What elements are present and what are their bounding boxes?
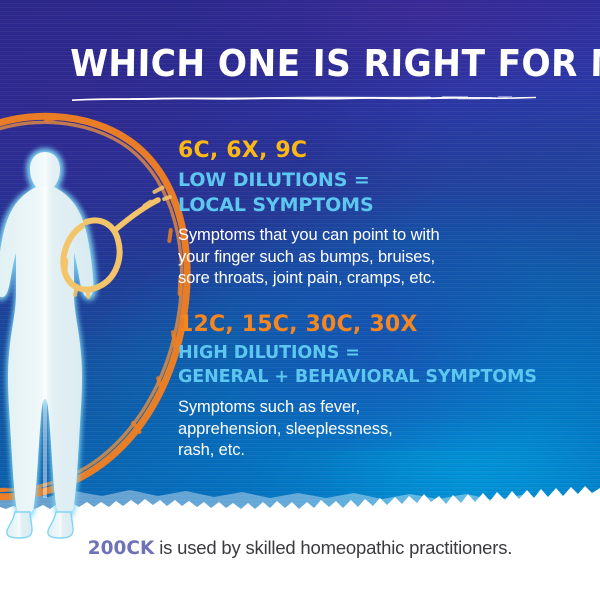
description-low-line-2: your finger such as bumps, bruises, xyxy=(178,248,435,266)
description-high-line-2: apprehension, sleeplessness, xyxy=(178,420,393,438)
page-title: WHICH ONE IS RIGHT FOR ME? xyxy=(70,42,508,86)
dilution-block-low: 6C, 6X, 9C LOW DILUTIONS = LOCAL SYMPTOM… xyxy=(178,138,578,290)
footer-text: is used by skilled homeopathic practitio… xyxy=(154,537,512,558)
description-high-line-1: Symptoms such as fever, xyxy=(178,398,360,416)
dilution-line-high-1: HIGH DILUTIONS = xyxy=(178,343,590,364)
ragged-paint-edge-icon xyxy=(0,466,600,512)
potency-label-high: 12C, 15C, 30C, 30X xyxy=(178,312,590,338)
dilution-line-low-2: LOCAL SYMPTOMS xyxy=(178,194,578,216)
description-high: Symptoms such as fever, apprehension, sl… xyxy=(178,397,590,462)
description-low: Symptoms that you can point to with your… xyxy=(178,225,578,290)
footer-note: 200CK is used by skilled homeopathic pra… xyxy=(0,536,600,561)
dilution-line-low-1: LOW DILUTIONS = xyxy=(178,169,578,191)
infographic-poster: WHICH ONE IS RIGHT FOR ME? xyxy=(0,0,600,600)
potency-label-low: 6C, 6X, 9C xyxy=(178,138,578,164)
description-high-line-3: rash, etc. xyxy=(178,441,245,459)
description-low-line-3: sore throats, joint pain, cramps, etc. xyxy=(178,269,436,287)
footer-potency-code: 200CK xyxy=(88,538,155,559)
dilution-line-high-2: GENERAL + BEHAVIORAL SYMPTOMS xyxy=(178,367,590,388)
description-low-line-1: Symptoms that you can point to with xyxy=(178,226,440,244)
dilution-block-high: 12C, 15C, 30C, 30X HIGH DILUTIONS = GENE… xyxy=(178,312,590,462)
